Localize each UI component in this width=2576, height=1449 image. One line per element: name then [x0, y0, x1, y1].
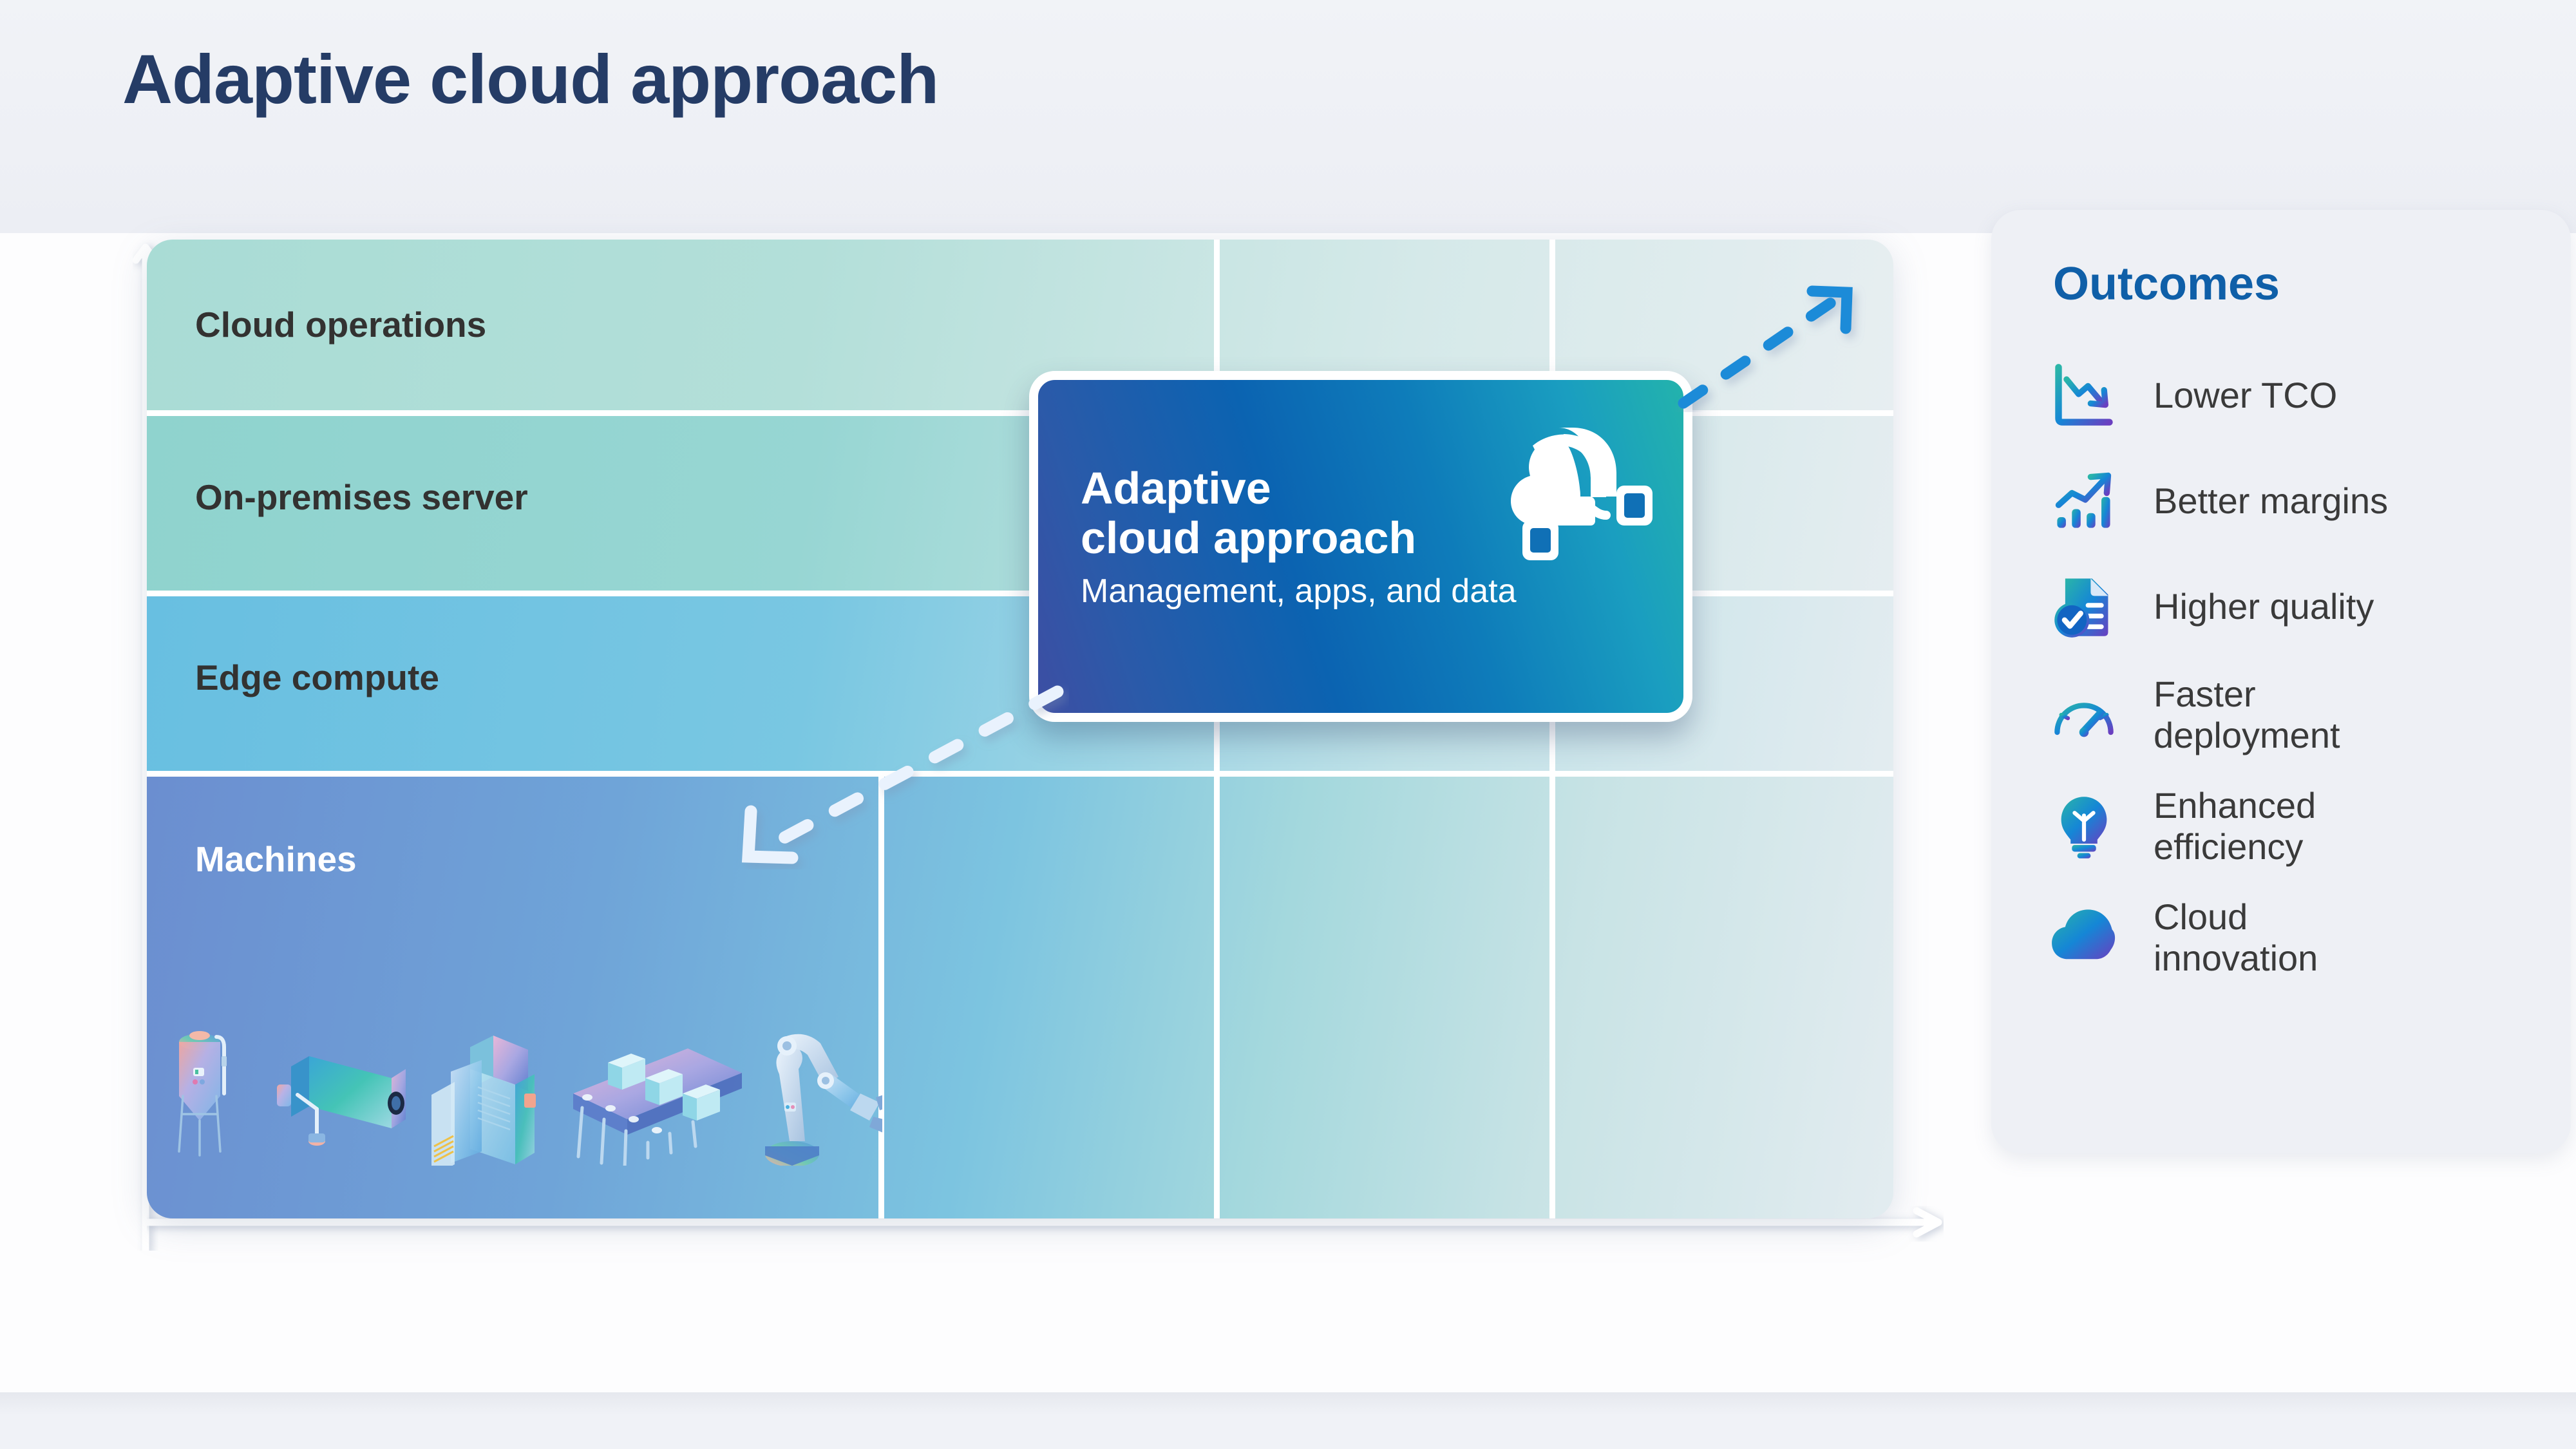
outcomes-list: Lower TCO Better margins	[2050, 357, 2553, 1007]
row-divider-1	[147, 410, 1024, 416]
storage-silo-icon	[179, 1031, 227, 1155]
layer-label-machines: Machines	[195, 838, 357, 880]
robot-arm-icon	[765, 1034, 882, 1166]
layer-label-on-premises-server: On-premises server	[195, 477, 528, 518]
conveyor-belt-icon	[573, 1048, 742, 1166]
dashed-arrow-down-left	[708, 683, 1069, 869]
cloud-icon	[2050, 904, 2117, 971]
outcome-label: Higher quality	[2154, 586, 2374, 627]
adaptive-cloud-approach-card[interactable]: Adaptive cloud approach Management, apps…	[1029, 371, 1692, 722]
outcomes-title: Outcomes	[2053, 258, 2280, 310]
chart-declining-icon	[2050, 362, 2117, 429]
page-title: Adaptive cloud approach	[122, 39, 938, 119]
outcome-item-better-margins[interactable]: Better margins	[2050, 462, 2553, 540]
outcome-item-higher-quality[interactable]: Higher quality	[2050, 568, 2553, 645]
card-text-block: Adaptive cloud approach Management, apps…	[1081, 464, 1454, 611]
machines-illustration-group	[174, 1018, 882, 1166]
outcome-label: Lower TCO	[2154, 375, 2337, 416]
outcome-item-faster-deployment[interactable]: Faster deployment	[2050, 674, 2553, 757]
dashed-arrow-up-right	[1674, 283, 1893, 412]
outcomes-panel: Outcomes Lower TCO	[1991, 210, 2571, 1153]
slide-root: Adaptive cloud approach	[0, 0, 2576, 1449]
layer-label-cloud-operations: Cloud operations	[195, 304, 486, 345]
outcome-label: Enhanced efficiency	[2154, 785, 2316, 868]
outcome-label: Better margins	[2154, 480, 2388, 522]
outcome-label: Faster deployment	[2154, 674, 2340, 757]
outcome-label: Cloud innovation	[2154, 896, 2318, 980]
row-divider-2	[147, 591, 1024, 596]
row-divider-3-right	[1024, 771, 1893, 777]
layer-label-edge-compute: Edge compute	[195, 657, 439, 698]
chart-rising-icon	[2050, 468, 2117, 535]
card-subtitle: Management, apps, and data	[1081, 572, 1454, 611]
outcome-item-lower-tco[interactable]: Lower TCO	[2050, 357, 2553, 434]
outcome-item-enhanced-efficiency[interactable]: Enhanced efficiency	[2050, 785, 2553, 868]
printing-press-icon	[431, 1036, 536, 1166]
cloud-network-icon	[1497, 408, 1658, 569]
lightbulb-icon	[2050, 793, 2117, 860]
document-check-icon	[2050, 573, 2117, 640]
outcome-item-cloud-innovation[interactable]: Cloud innovation	[2050, 896, 2553, 980]
inspection-camera-icon	[277, 1056, 406, 1146]
speedometer-icon	[2050, 681, 2117, 748]
footer-band	[0, 1392, 2576, 1449]
card-title: Adaptive cloud approach	[1081, 464, 1454, 563]
